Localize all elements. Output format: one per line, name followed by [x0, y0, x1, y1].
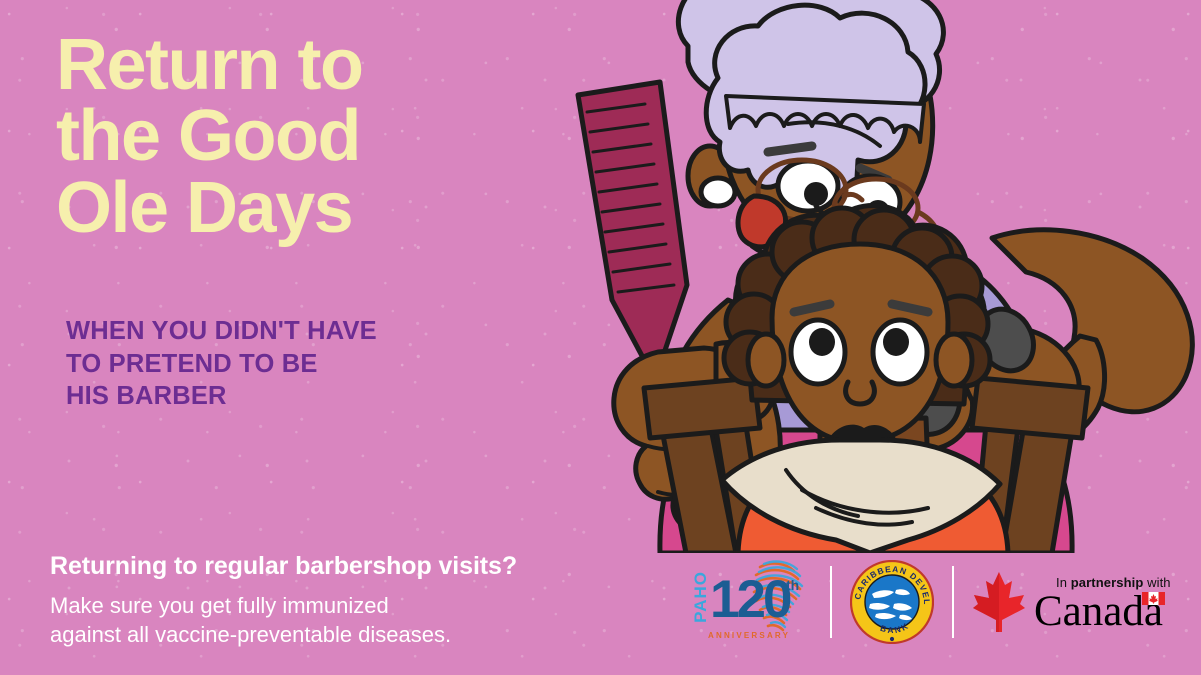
cta-body: Make sure you get fully immunized agains…	[50, 592, 451, 650]
boy-ear-left	[748, 334, 784, 386]
subheadline: WHEN YOU DIDN'T HAVE TO PRETEND TO BE HI…	[66, 315, 536, 413]
partner-logo-strip: PAHO 120 th ANNIVERSARY	[690, 556, 1170, 648]
paho-anniversary-label: ANNIVERSARY	[708, 631, 790, 640]
paho-number-120: 120	[710, 573, 789, 626]
maple-leaf-icon	[972, 571, 1026, 633]
grandma-eyebrow-left	[768, 146, 812, 152]
logo-divider-2	[952, 566, 954, 638]
paho-120th-anniversary-logo: PAHO 120 th ANNIVERSARY	[690, 559, 812, 645]
canada-flag-icon	[1142, 592, 1165, 605]
cta-question: Returning to regular barbershop visits?	[50, 552, 517, 581]
caribbean-development-bank-logo: CARIBBEAN DEVELOPMENT BANK	[850, 560, 934, 644]
canada-wordmark-block: In partnership with Canada	[1034, 571, 1171, 633]
paho-wordmark: PAHO	[692, 571, 709, 623]
canada-wordmark: Canada	[1034, 590, 1163, 633]
poster-canvas: Return to the Good Ole Days WHEN YOU DID…	[0, 0, 1201, 675]
page-title: Return to the Good Ole Days	[56, 30, 616, 244]
logo-divider-1	[830, 566, 832, 638]
grandma-earring	[701, 178, 735, 206]
boy-ear-right	[936, 334, 972, 386]
cdb-dot	[890, 637, 894, 641]
paho-ordinal-th: th	[786, 577, 799, 593]
government-of-canada-logo: In partnership with Canada	[972, 561, 1172, 643]
illustration-grandmother-cutting-hair	[540, 0, 1201, 553]
